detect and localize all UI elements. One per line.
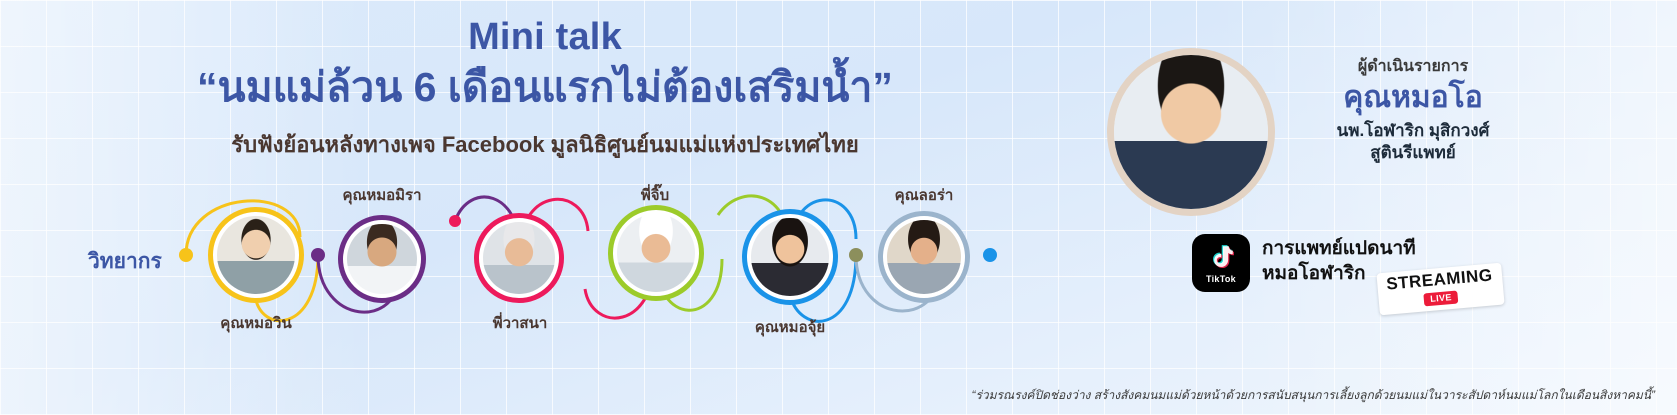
host-block: ผู้ดำเนินรายการ คุณหมอโอ นพ.โอฬาริก มุสิ… [1107,48,1537,228]
speaker-name: คุณหมอจุ้ย [722,315,858,339]
speaker-photo [617,214,695,292]
campaign-banner: Mini talk “นมแม่ล้วน 6 เดือนแรกไม่ต้องเส… [0,0,1677,415]
speaker-avatar[interactable] [742,209,838,305]
speakers-row: วิทยากร คุณหมอวิน [0,185,1060,335]
host-photo [1114,55,1268,209]
tiktok-block: TikTok การแพทย์แปดนาที หมอโอฬาริก STREAM… [1192,232,1492,304]
live-badge: LIVE [1423,291,1458,307]
host-fullname: นพ.โอฬาริก มุสิกวงศ์ [1289,120,1537,142]
host-nickname: คุณหมอโอ [1289,81,1537,114]
speaker-avatar[interactable] [878,211,970,303]
host-specialty: สูตินรีแพทย์ [1289,142,1537,164]
speaker-photo [887,220,961,294]
tiktok-wordmark: TikTok [1206,274,1236,284]
headline-kicker: Mini talk [0,18,1090,58]
tiktok-note-icon [1206,243,1236,273]
speaker-name: พี่วาสนา [452,311,588,335]
tiktok-icon[interactable]: TikTok [1192,234,1250,292]
tiktok-channel-line1: การแพทย์แปดนาที [1262,236,1416,261]
speaker-avatar[interactable] [338,215,426,303]
streaming-label: STREAMING [1385,266,1493,292]
speaker-name: คุณลอร่า [856,183,992,207]
host-role-label: ผู้ดำเนินรายการ [1289,54,1537,79]
speaker-name: คุณหมอมิรา [312,183,452,207]
speaker-name: พี่จิ๊บ [592,183,718,207]
speaker-avatar[interactable] [608,205,704,301]
host-avatar[interactable] [1107,48,1275,216]
speaker-name: คุณหมอวิน [186,311,326,335]
headline-block: Mini talk “นมแม่ล้วน 6 เดือนแรกไม่ต้องเส… [0,18,1090,162]
speaker-photo [217,216,295,294]
speaker-avatar[interactable] [474,213,564,303]
speaker-avatar[interactable] [208,207,304,303]
headline-subtitle: รับฟังย้อนหลังทางเพจ Facebook มูลนิธิศูน… [0,127,1090,162]
speaker-photo [347,224,417,294]
speaker-photo [483,222,555,294]
speaker-photo [751,218,829,296]
footer-note: “ร่วมรณรงค์ปิดช่องว่าง สร้างสังคมนมแม่ด้… [971,386,1655,405]
page-title: “นมแม่ล้วน 6 เดือนแรกไม่ต้องเสริมน้ำ” [0,62,1090,113]
host-text-block: ผู้ดำเนินรายการ คุณหมอโอ นพ.โอฬาริก มุสิ… [1289,54,1537,164]
